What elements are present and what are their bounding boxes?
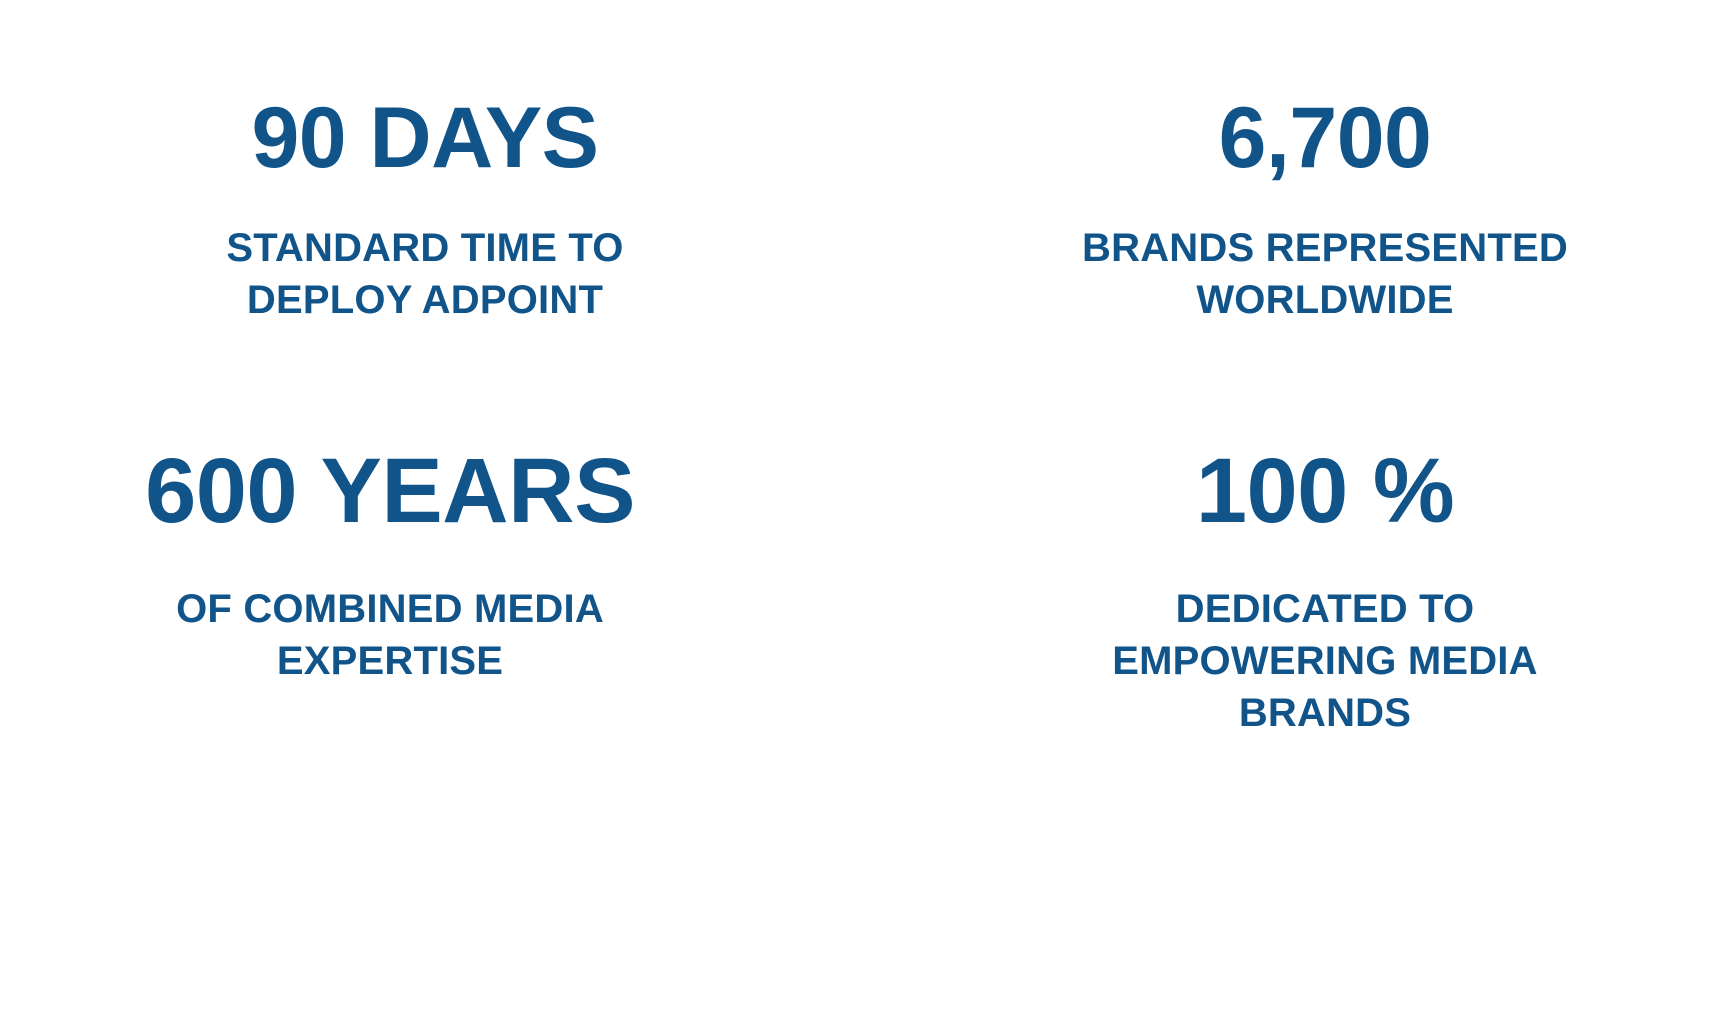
bottom-whitespace xyxy=(0,812,1720,1012)
stat-block-dedicated-to-empowering-media-brands: 100 % DEDICATED TO EMPOWERING MEDIA BRAN… xyxy=(860,400,1720,812)
stat-value: 600 YEARS xyxy=(145,448,635,535)
stat-block-combined-media-expertise: 600 YEARS OF COMBINED MEDIA EXPERTISE xyxy=(0,400,860,812)
stat-value: 6,700 xyxy=(1219,98,1432,180)
stat-block-standard-time-to-deploy-adpoint: 90 DAYS STANDARD TIME TO DEPLOY ADPOINT xyxy=(0,0,860,400)
stat-value: 90 DAYS xyxy=(251,98,598,180)
stat-label: STANDARD TIME TO DEPLOY ADPOINT xyxy=(190,222,660,326)
stat-value: 100 % xyxy=(1196,448,1454,535)
stat-label: BRANDS REPRESENTED WORLDWIDE xyxy=(1065,222,1585,326)
stats-board: 90 DAYS STANDARD TIME TO DEPLOY ADPOINT … xyxy=(0,0,1720,1012)
stat-block-brands-represented-worldwide: 6,700 BRANDS REPRESENTED WORLDWIDE xyxy=(860,0,1720,400)
stat-label: DEDICATED TO EMPOWERING MEDIA BRANDS xyxy=(1080,583,1570,739)
stat-label: OF COMBINED MEDIA EXPERTISE xyxy=(145,583,635,687)
